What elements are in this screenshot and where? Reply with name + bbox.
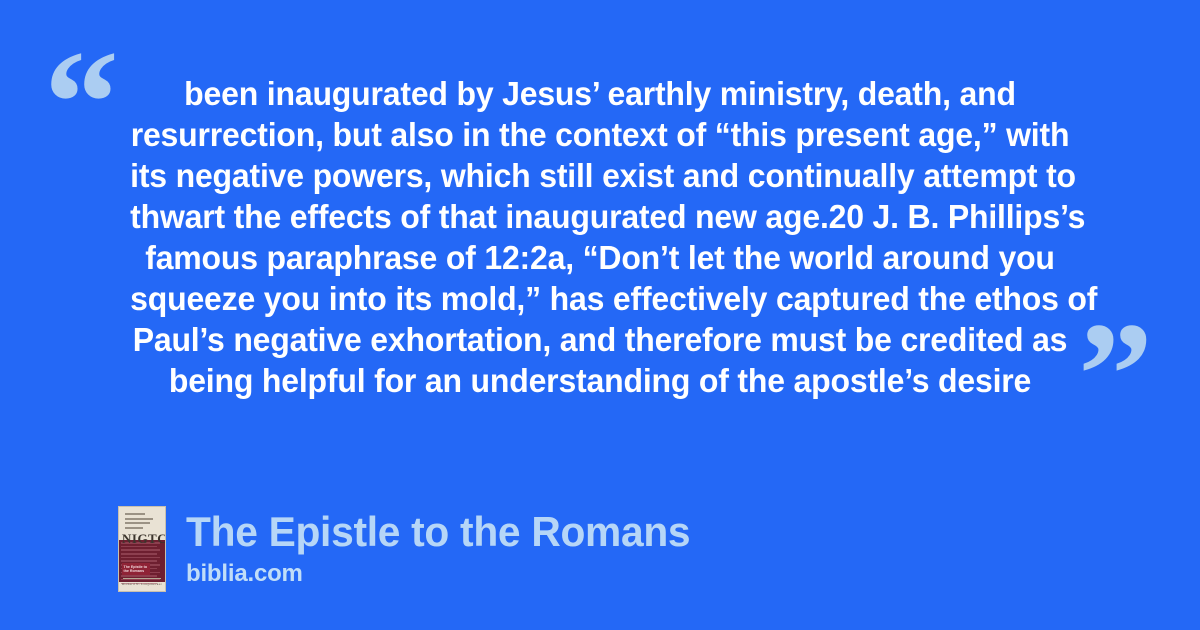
quote-card: “ ” been inaugurated by Jesus’ earthly m… [0,0,1200,630]
cover-maroon-panel: The Epistle to the Romans [119,540,165,582]
quote-line: Paul’s negative exhortation, and therefo… [130,320,1070,361]
quote-line: thwart the effects of that inaugurated n… [130,197,1070,238]
book-title: The Epistle to the Romans [186,508,690,556]
cover-series-text [125,513,160,531]
quote-line: been inaugurated by Jesus’ earthly minis… [130,74,1070,115]
cover-author-name: Richard N. Longenecker [119,582,165,586]
quote-text-block: been inaugurated by Jesus’ earthly minis… [108,74,1092,402]
book-cover-thumbnail: The Epistle to the Romans NIGTC Richard … [118,506,166,592]
footer: The Epistle to the Romans NIGTC Richard … [118,506,706,592]
quote-line: resurrection, but also in the context of… [130,115,1070,156]
cover-title-label: The Epistle to the Romans [122,563,150,575]
quote-line: being helpful for an understanding of th… [130,361,1070,402]
cover-series-acronym: NIGTC [122,532,164,545]
footer-text-group: The Epistle to the Romans biblia.com [186,506,706,588]
quote-line: squeeze you into its mold,” has effectiv… [130,279,1070,320]
cover-divider [123,578,161,579]
quote-line: its negative powers, which still exist a… [130,156,1070,197]
quote-line: famous paraphrase of 12:2a, “Don’t let t… [130,238,1070,279]
site-name: biblia.com [186,560,706,588]
